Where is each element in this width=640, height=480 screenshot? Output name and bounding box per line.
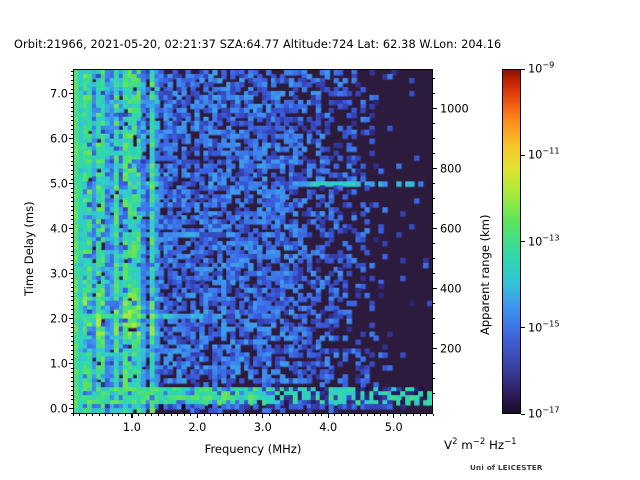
y2-tick-minor: [433, 303, 435, 304]
x-tick-minor: [269, 414, 270, 416]
y-axis-label: Time Delay (ms): [22, 201, 36, 296]
y2-tick-label: 400: [440, 282, 462, 295]
x-tick-minor: [190, 414, 191, 416]
y-tick-minor: [71, 404, 73, 405]
y-tick-minor: [71, 75, 73, 76]
y-tick-minor: [71, 107, 73, 108]
y2-tick-minor: [433, 273, 435, 274]
y-tick-minor: [71, 80, 73, 81]
x-tick-minor: [413, 414, 414, 416]
y2-tick-minor: [433, 243, 435, 244]
y-tick-minor: [71, 129, 73, 130]
x-tick-minor: [406, 414, 407, 416]
y-tick-minor: [71, 152, 73, 153]
y-tick-minor: [71, 377, 73, 378]
x-tick-minor: [112, 414, 113, 416]
colorbar-tick-label: 10−17: [528, 408, 560, 421]
y2-tick-label: 600: [440, 222, 462, 235]
y-tick-minor: [71, 354, 73, 355]
x-tick-minor: [367, 414, 368, 416]
y2-tick-minor: [433, 153, 435, 154]
y-tick-minor: [71, 143, 73, 144]
x-tick-minor: [380, 414, 381, 416]
y-tick-minor: [71, 242, 73, 243]
x-tick-minor: [302, 414, 303, 416]
y-tick-minor: [71, 269, 73, 270]
y-tick-minor: [71, 201, 73, 202]
y-tick-minor: [71, 327, 73, 328]
x-tick-minor: [164, 414, 165, 416]
y-tick-minor: [71, 309, 73, 310]
y2-tick-minor: [433, 363, 435, 364]
colorbar-tick: [521, 327, 525, 328]
x-tick-label: 3.0: [254, 421, 272, 434]
x-tick-minor: [295, 414, 296, 416]
y-tick-minor: [71, 336, 73, 337]
x-tick-label: 1.0: [123, 421, 141, 434]
y-tick-major: [69, 318, 73, 319]
y-tick-minor: [71, 359, 73, 360]
y-tick-label: 7.0: [30, 87, 68, 100]
x-tick-major: [393, 414, 394, 418]
y-tick-minor: [71, 300, 73, 301]
colorbar-units-label: V2 m−2 Hz−1: [444, 438, 517, 452]
colorbar-tick-label: 10−13: [528, 235, 560, 248]
x-tick-minor: [105, 414, 106, 416]
x-tick-minor: [276, 414, 277, 416]
x-tick-label: 5.0: [385, 421, 403, 434]
institution-footer: Uni of LEICESTER: [470, 463, 543, 472]
figure-canvas: Orbit:21966, 2021-05-20, 02:21:37 SZA:64…: [0, 0, 640, 480]
y-tick-minor: [71, 381, 73, 382]
x-tick-minor: [223, 414, 224, 416]
y-tick-major: [69, 273, 73, 274]
x-tick-minor: [341, 414, 342, 416]
x-tick-minor: [210, 414, 211, 416]
y-tick-label: 4.0: [30, 222, 68, 235]
x-tick-minor: [308, 414, 309, 416]
y2-tick-major: [433, 228, 437, 229]
y-tick-label: 0.0: [30, 402, 68, 415]
y-tick-minor: [71, 156, 73, 157]
y2-tick-minor: [433, 78, 435, 79]
page-title: Orbit:21966, 2021-05-20, 02:21:37 SZA:64…: [14, 38, 501, 51]
y-tick-minor: [71, 314, 73, 315]
x-tick-minor: [400, 414, 401, 416]
y-tick-minor: [71, 237, 73, 238]
x-tick-minor: [282, 414, 283, 416]
y2-tick-major: [433, 108, 437, 109]
y-tick-minor: [71, 255, 73, 256]
x-tick-minor: [99, 414, 100, 416]
x-tick-minor: [86, 414, 87, 416]
colorbar-tick: [521, 241, 525, 242]
x-tick-minor: [236, 414, 237, 416]
y2-tick-major: [433, 168, 437, 169]
colorbar-tick: [521, 69, 525, 70]
x-tick-minor: [92, 414, 93, 416]
y-tick-major: [69, 183, 73, 184]
x-tick-major: [197, 414, 198, 418]
y2-tick-minor: [433, 318, 435, 319]
y-tick-minor: [71, 219, 73, 220]
y2-tick-label: 800: [440, 162, 462, 175]
colorbar-tick-label: 10−9: [528, 63, 554, 76]
x-tick-minor: [184, 414, 185, 416]
y-tick-label: 5.0: [30, 177, 68, 190]
y-tick-minor: [71, 287, 73, 288]
y-tick-minor: [71, 174, 73, 175]
y-tick-minor: [71, 224, 73, 225]
y-tick-minor: [71, 251, 73, 252]
y-tick-minor: [71, 305, 73, 306]
x-tick-minor: [426, 414, 427, 416]
x-tick-minor: [177, 414, 178, 416]
y2-tick-major: [433, 288, 437, 289]
x-tick-minor: [151, 414, 152, 416]
y-tick-label: 6.0: [30, 132, 68, 145]
x-tick-minor: [79, 414, 80, 416]
ionogram-heatmap: [74, 70, 432, 413]
y-tick-minor: [71, 350, 73, 351]
x-tick-minor: [321, 414, 322, 416]
y2-tick-minor: [433, 123, 435, 124]
x-tick-minor: [374, 414, 375, 416]
y2-tick-minor: [433, 213, 435, 214]
y-tick-minor: [71, 332, 73, 333]
y-tick-minor: [71, 323, 73, 324]
x-tick-minor: [289, 414, 290, 416]
y2-tick-minor: [433, 138, 435, 139]
x-tick-minor: [230, 414, 231, 416]
colorbar-tick-label: 10−15: [528, 321, 560, 334]
y-tick-minor: [71, 71, 73, 72]
y-tick-minor: [71, 179, 73, 180]
y-tick-minor: [71, 84, 73, 85]
y-tick-major: [69, 228, 73, 229]
y-tick-minor: [71, 278, 73, 279]
y-tick-minor: [71, 116, 73, 117]
y-tick-major: [69, 363, 73, 364]
y-tick-label: 1.0: [30, 357, 68, 370]
y2-tick-minor: [433, 378, 435, 379]
y-tick-label: 3.0: [30, 267, 68, 280]
y-tick-minor: [71, 264, 73, 265]
y-tick-minor: [71, 206, 73, 207]
y-tick-minor: [71, 368, 73, 369]
y-tick-minor: [71, 125, 73, 126]
y-tick-minor: [71, 98, 73, 99]
x-tick-minor: [387, 414, 388, 416]
y-tick-minor: [71, 233, 73, 234]
y-tick-label: 2.0: [30, 312, 68, 325]
x-tick-minor: [145, 414, 146, 416]
y-tick-minor: [71, 390, 73, 391]
x-tick-minor: [118, 414, 119, 416]
y2-tick-minor: [433, 183, 435, 184]
ionogram-axes[interactable]: [73, 69, 433, 414]
y-tick-minor: [71, 197, 73, 198]
x-tick-major: [328, 414, 329, 418]
y-tick-minor: [71, 386, 73, 387]
y-tick-minor: [71, 341, 73, 342]
y-tick-minor: [71, 246, 73, 247]
x-tick-minor: [171, 414, 172, 416]
y2-tick-label: 1000: [440, 102, 469, 115]
y-tick-minor: [71, 291, 73, 292]
x-tick-minor: [158, 414, 159, 416]
x-tick-minor: [243, 414, 244, 416]
x-tick-minor: [125, 414, 126, 416]
y-tick-minor: [71, 296, 73, 297]
x-tick-minor: [217, 414, 218, 416]
x-tick-minor: [348, 414, 349, 416]
y-tick-minor: [71, 89, 73, 90]
x-tick-minor: [315, 414, 316, 416]
y-tick-minor: [71, 188, 73, 189]
y-tick-minor: [71, 102, 73, 103]
y2-tick-minor: [433, 258, 435, 259]
y-tick-minor: [71, 210, 73, 211]
x-tick-minor: [73, 414, 74, 416]
y-tick-minor: [71, 282, 73, 283]
y2-tick-minor: [433, 333, 435, 334]
y-tick-minor: [71, 260, 73, 261]
x-tick-minor: [354, 414, 355, 416]
x-tick-minor: [361, 414, 362, 416]
y-tick-minor: [71, 161, 73, 162]
y-tick-minor: [71, 372, 73, 373]
colorbar[interactable]: [502, 69, 521, 414]
y2-tick-major: [433, 348, 437, 349]
y-tick-minor: [71, 111, 73, 112]
y2-tick-minor: [433, 198, 435, 199]
y-tick-major: [69, 93, 73, 94]
x-tick-label: 4.0: [319, 421, 337, 434]
x-tick-major: [131, 414, 132, 418]
y-tick-minor: [71, 134, 73, 135]
x-tick-minor: [420, 414, 421, 416]
x-tick-minor: [433, 414, 434, 416]
x-tick-minor: [334, 414, 335, 416]
colorbar-tick: [521, 414, 525, 415]
x-tick-minor: [256, 414, 257, 416]
y-tick-minor: [71, 215, 73, 216]
y-tick-minor: [71, 399, 73, 400]
colorbar-tick: [521, 155, 525, 156]
y2-axis-label: Apparent range (km): [478, 215, 492, 335]
y-tick-major: [69, 138, 73, 139]
x-tick-minor: [138, 414, 139, 416]
x-tick-minor: [249, 414, 250, 416]
y-tick-minor: [71, 170, 73, 171]
y-tick-minor: [71, 395, 73, 396]
y-tick-minor: [71, 147, 73, 148]
y-tick-major: [69, 408, 73, 409]
y-tick-minor: [71, 345, 73, 346]
colorbar-tick-label: 10−11: [528, 149, 560, 162]
x-tick-major: [262, 414, 263, 418]
y-tick-minor: [71, 165, 73, 166]
y-tick-minor: [71, 120, 73, 121]
y2-tick-minor: [433, 93, 435, 94]
y2-tick-minor: [433, 393, 435, 394]
x-tick-label: 2.0: [188, 421, 206, 434]
y2-tick-label: 200: [440, 342, 462, 355]
x-axis-label: Frequency (MHz): [205, 442, 302, 456]
x-tick-minor: [204, 414, 205, 416]
y-tick-minor: [71, 192, 73, 193]
